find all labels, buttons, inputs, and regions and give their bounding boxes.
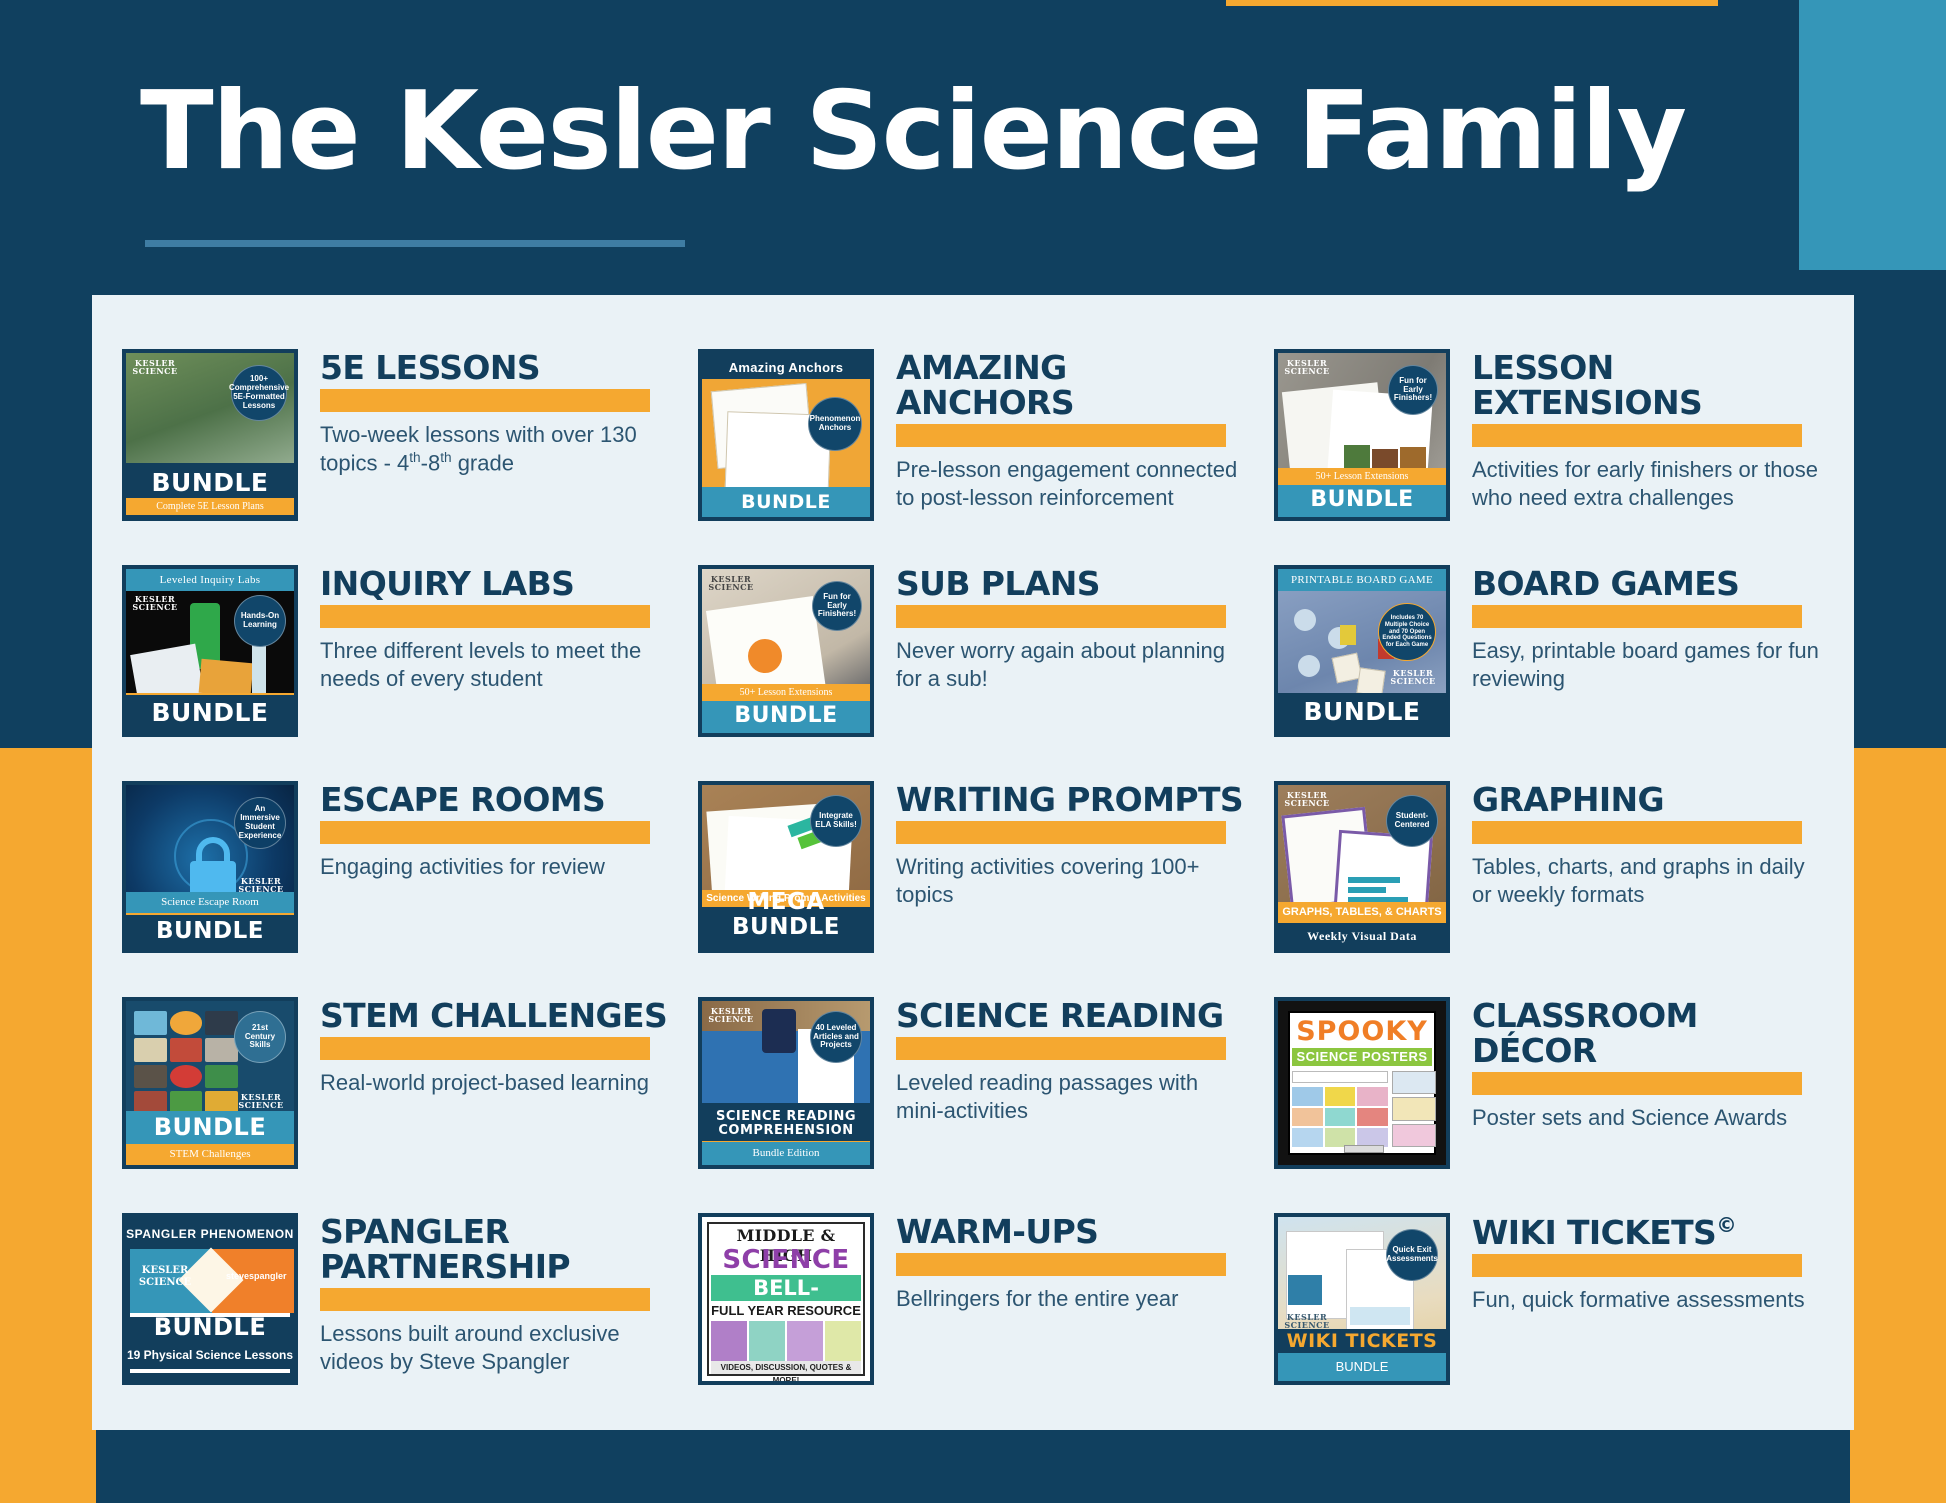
product-grid: KESLER SCIENCE 100+ Comprehensive 5E-For… xyxy=(122,345,1852,1425)
poster-subtitle: SCIENCE POSTERS xyxy=(1292,1048,1432,1066)
thumb-bar-2 xyxy=(1348,887,1386,893)
title-accent-bar xyxy=(320,389,650,412)
title-accent-bar xyxy=(896,1253,1226,1276)
product-description: Tables, charts, and graphs in daily or w… xyxy=(1472,853,1824,910)
thumb-header-label: Leveled Inquiry Labs xyxy=(126,574,294,586)
title-accent-bar xyxy=(896,821,1226,844)
poster-cell xyxy=(1392,1097,1436,1120)
title-accent-bar xyxy=(320,1037,650,1060)
thumbnail-lesson-extensions[interactable]: KESLER SCIENCE Fun for Early Finishers! … xyxy=(1274,349,1450,521)
product-title: SUB PLANS xyxy=(896,567,1248,602)
thumb-tray xyxy=(199,659,254,697)
kesler-logo-icon: KESLER SCIENCE xyxy=(1390,669,1436,685)
product-text-block: WRITING PROMPTS Writing activities cover… xyxy=(896,777,1248,910)
warmups-footer: VIDEOS, DISCUSSION, QUOTES & MORE! xyxy=(711,1361,861,1374)
product-text-block: CLASSROOM DÉCOR Poster sets and Science … xyxy=(1472,993,1824,1132)
product-description: Three different levels to meet the needs… xyxy=(320,637,672,694)
product-item-spangler-partnership[interactable]: SPANGLER PHENOMENON KESLER SCIENCE steve… xyxy=(122,1209,698,1425)
poster-cell xyxy=(1392,1124,1436,1147)
warmups-preview-cell xyxy=(749,1321,785,1365)
poster-tab xyxy=(1344,1145,1384,1153)
product-text-block: 5E LESSONS Two-week lessons with over 13… xyxy=(320,345,672,478)
product-title: LESSON EXTENSIONS xyxy=(1472,351,1824,421)
product-title: WIKI TICKETS© xyxy=(1472,1215,1824,1251)
product-description: Fun, quick formative assessments xyxy=(1472,1286,1824,1314)
product-item-sub-plans[interactable]: KESLER SCIENCE Fun for Early Finishers! … xyxy=(698,561,1274,777)
title-underline xyxy=(145,240,685,247)
thumb-header-label: Amazing Anchors xyxy=(702,360,870,375)
product-item-escape-rooms[interactable]: An Immersive Student Experience KESLER S… xyxy=(122,777,698,993)
title-accent-bar xyxy=(1472,1254,1802,1277)
thumb-strip-label: STEM Challenges xyxy=(126,1144,294,1165)
thumb-bundle-label: BUNDLE xyxy=(126,469,294,497)
thumb-bundle-label: BUNDLE xyxy=(126,919,294,945)
product-text-block: GRAPHING Tables, charts, and graphs in d… xyxy=(1472,777,1824,910)
product-text-block: BOARD GAMES Easy, printable board games … xyxy=(1472,561,1824,694)
thumbnail-classroom-decor[interactable]: SPOOKY SCIENCE POSTERS xyxy=(1274,997,1450,1169)
lock-shackle-icon xyxy=(196,837,230,863)
thumb-space-1 xyxy=(1294,609,1316,631)
page-title: The Kesler Science Family xyxy=(140,78,1685,186)
poster-title: SPOOKY xyxy=(1292,1017,1432,1047)
background-band-navy-right xyxy=(1850,270,1946,748)
product-item-5e-lessons[interactable]: KESLER SCIENCE 100+ Comprehensive 5E-For… xyxy=(122,345,698,561)
product-item-lesson-extensions[interactable]: KESLER SCIENCE Fun for Early Finishers! … xyxy=(1274,345,1852,561)
thumb-bundle-label: SCIENCE READING COMPREHENSION xyxy=(702,1110,870,1139)
product-item-writing-prompts[interactable]: Integrate ELA Skills! Science Writing Pr… xyxy=(698,777,1274,993)
kesler-logo-icon: KESLER SCIENCE xyxy=(708,1007,754,1023)
thumb-badge: Includes 70 Multiple Choice and 70 Open … xyxy=(1378,603,1436,661)
header: The Kesler Science Family xyxy=(0,0,1946,295)
product-title: AMAZING ANCHORS xyxy=(896,351,1248,421)
thumb-badge: 100+ Comprehensive 5E-Formatted Lessons xyxy=(231,365,287,421)
product-text-block: SUB PLANS Never worry again about planni… xyxy=(896,561,1248,694)
product-description: Real-world project-based learning xyxy=(320,1069,672,1097)
poster-side-grid xyxy=(1392,1071,1436,1147)
thumb-bundle-label: WIKI TICKETS xyxy=(1278,1331,1446,1352)
poster-cell xyxy=(1292,1108,1323,1127)
thumb-badge: Fun for Early Finishers! xyxy=(812,581,862,631)
warmups-line4: FULL YEAR RESOURCE xyxy=(711,1302,861,1319)
stem-icon xyxy=(205,1038,238,1062)
thumb-strip-label: BUNDLE xyxy=(1278,1353,1446,1381)
thumb-badge: Fun for Early Finishers! xyxy=(1388,365,1438,415)
title-accent-bar xyxy=(1472,605,1802,628)
copyright-symbol: © xyxy=(1716,1213,1736,1237)
kesler-logo-icon: KESLER SCIENCE xyxy=(132,595,178,611)
product-description: Pre-lesson engagement connected to post-… xyxy=(896,456,1248,513)
thumb-bundle-label: BUNDLE xyxy=(702,492,870,513)
stem-icon xyxy=(205,1065,238,1089)
thumb-strip-label: Bundle Edition xyxy=(702,1142,870,1165)
product-title: STEM CHALLENGES xyxy=(320,999,672,1034)
thumb-strip-label: Complete 5E Lesson Plans xyxy=(126,498,294,516)
poster-cell xyxy=(1392,1071,1436,1094)
thumb-strip-label: 19 Physical Science Lessons xyxy=(126,1347,294,1363)
product-item-inquiry-labs[interactable]: Leveled Inquiry Labs KESLER SCIENCE Hand… xyxy=(122,561,698,777)
stem-icon xyxy=(134,1011,167,1035)
thumbnail-sub-plans[interactable]: KESLER SCIENCE Fun for Early Finishers! … xyxy=(698,565,874,737)
product-item-board-games[interactable]: PRINTABLE BOARD GAME Includes 70 Multipl… xyxy=(1274,561,1852,777)
thumb-strip-label: 50+ Lesson Extensions xyxy=(702,684,870,702)
title-accent-bar xyxy=(896,1037,1226,1060)
poster-thumb-grid xyxy=(1292,1087,1388,1147)
product-description: Two-week lessons with over 130 topics - … xyxy=(320,421,672,478)
title-accent-bar xyxy=(1472,1072,1802,1095)
kesler-logo-icon: KESLER SCIENCE xyxy=(238,877,284,893)
poster-cell xyxy=(1292,1087,1323,1106)
warmups-preview-grid xyxy=(711,1321,861,1365)
title-accent-bar xyxy=(896,605,1226,628)
thumbnail-escape-rooms[interactable]: An Immersive Student Experience KESLER S… xyxy=(122,781,298,953)
product-item-stem-challenges[interactable]: 21st Century Skills KESLER SCIENCE BUNDL… xyxy=(122,993,698,1209)
thumbnail-warm-ups[interactable]: MIDDLE & HIGH SCIENCE BELL-RINGERS FULL … xyxy=(698,1213,874,1385)
product-item-graphing[interactable]: KESLER SCIENCE Student-Centered GRAPHS, … xyxy=(1274,777,1852,993)
product-title: WRITING PROMPTS xyxy=(896,783,1248,818)
stem-icon xyxy=(134,1038,167,1062)
thumbnail-spangler-partnership[interactable]: SPANGLER PHENOMENON KESLER SCIENCE steve… xyxy=(122,1213,298,1385)
thumb-strip-label: 50+ Lesson Extensions xyxy=(1278,468,1446,486)
product-item-science-reading[interactable]: KESLER SCIENCE 40 Leveled Articles and P… xyxy=(698,993,1274,1209)
thumb-bundle-label: BUNDLE xyxy=(702,704,870,729)
product-item-wiki-tickets[interactable]: Quick Exit Assessments KESLER SCIENCE WI… xyxy=(1274,1209,1852,1425)
product-description: Poster sets and Science Awards xyxy=(1472,1104,1824,1132)
product-description: Writing activities covering 100+ topics xyxy=(896,853,1248,910)
product-title: SPANGLER PARTNERSHIP xyxy=(320,1215,672,1285)
product-text-block: STEM CHALLENGES Real-world project-based… xyxy=(320,993,672,1097)
kesler-logo-icon: KESLER SCIENCE xyxy=(1284,791,1330,807)
stem-icon xyxy=(205,1011,238,1035)
thumbnail-board-games[interactable]: PRINTABLE BOARD GAME Includes 70 Multipl… xyxy=(1274,565,1450,737)
product-description: Engaging activities for review xyxy=(320,853,672,881)
thumb-bundle-label: BUNDLE xyxy=(1278,488,1446,513)
thumb-pawn-yellow xyxy=(1340,625,1356,645)
kesler-logo-icon: KESLER SCIENCE xyxy=(136,1265,194,1288)
title-accent-bar xyxy=(896,424,1226,447)
poster-cell xyxy=(1325,1108,1356,1127)
product-item-amazing-anchors[interactable]: Amazing Anchors Phenomenon Anchors BUNDL… xyxy=(698,345,1274,561)
stem-icon-grid xyxy=(134,1011,238,1115)
kesler-logo-icon: KESLER SCIENCE xyxy=(238,1093,284,1109)
thumb-bottom-rule xyxy=(130,1369,290,1373)
thumb-header-label: SPANGLER PHENOMENON xyxy=(126,1227,294,1241)
background-band-orange-left xyxy=(0,748,96,1503)
product-description: Lessons built around exclusive videos by… xyxy=(320,1320,672,1377)
product-text-block: ESCAPE ROOMS Engaging activities for rev… xyxy=(320,777,672,881)
spangler-logo-icon: stevespangler xyxy=(226,1271,286,1281)
warmups-line3: BELL-RINGERS xyxy=(711,1275,861,1301)
kesler-logo-icon: KESLER SCIENCE xyxy=(1284,359,1330,375)
product-title: GRAPHING xyxy=(1472,783,1824,818)
kesler-logo-icon: KESLER SCIENCE xyxy=(708,575,754,591)
product-text-block: INQUIRY LABS Three different levels to m… xyxy=(320,561,672,694)
thumb-badge: Integrate ELA Skills! xyxy=(810,795,862,847)
product-title: 5E LESSONS xyxy=(320,351,672,386)
warmups-line1: MIDDLE & HIGH xyxy=(711,1226,861,1246)
product-description: Bellringers for the entire year xyxy=(896,1285,1248,1313)
thumb-badge: Hands-On Learning xyxy=(234,595,286,647)
poster-cell xyxy=(1357,1108,1388,1127)
product-title: ESCAPE ROOMS xyxy=(320,783,672,818)
thumbnail-graphing[interactable]: KESLER SCIENCE Student-Centered GRAPHS, … xyxy=(1274,781,1450,953)
poster-cell xyxy=(1292,1071,1388,1083)
poster-cell xyxy=(1357,1087,1388,1106)
product-text-block: AMAZING ANCHORS Pre-lesson engagement co… xyxy=(896,345,1248,513)
thumb-bar-1 xyxy=(1348,877,1400,883)
thumb-strip-label: GRAPHS, TABLES, & CHARTS xyxy=(1278,902,1446,923)
thumb-photo xyxy=(1288,1275,1322,1305)
thumb-badge: Student-Centered xyxy=(1386,795,1438,847)
product-description: Never worry again about planning for a s… xyxy=(896,637,1248,694)
warmups-line2: SCIENCE xyxy=(711,1246,861,1274)
product-item-classroom-decor[interactable]: SPOOKY SCIENCE POSTERS CLASS xyxy=(1274,993,1852,1209)
product-text-block: WIKI TICKETS© Fun, quick formative asses… xyxy=(1472,1209,1824,1314)
thumb-photo-2 xyxy=(1350,1307,1410,1325)
thumb-space-3 xyxy=(1298,655,1320,677)
product-text-block: LESSON EXTENSIONS Activities for early f… xyxy=(1472,345,1824,513)
kesler-logo-icon: KESLER SCIENCE xyxy=(1284,1313,1330,1329)
poster-cell xyxy=(1325,1087,1356,1106)
product-text-block: WARM-UPS Bellringers for the entire year xyxy=(896,1209,1248,1313)
product-title: SCIENCE READING xyxy=(896,999,1248,1034)
stem-icon xyxy=(134,1065,167,1089)
title-accent-bar xyxy=(320,1288,650,1311)
thumb-strip-label: Science Escape Room xyxy=(126,892,294,913)
thumbnail-writing-prompts[interactable]: Integrate ELA Skills! Science Writing Pr… xyxy=(698,781,874,953)
thumbnail-science-reading[interactable]: KESLER SCIENCE 40 Leveled Articles and P… xyxy=(698,997,874,1169)
thumb-badge: Phenomenon Anchors xyxy=(808,397,862,451)
product-title: CLASSROOM DÉCOR xyxy=(1472,999,1824,1069)
background-band-orange-right xyxy=(1850,748,1946,1503)
thumb-bundle-label: BUNDLE xyxy=(126,1114,294,1141)
thumb-badge: Quick Exit Assessments xyxy=(1386,1229,1438,1281)
title-accent-bar xyxy=(1472,424,1802,447)
product-text-block: SCIENCE READING Leveled reading passages… xyxy=(896,993,1248,1126)
title-accent-bar xyxy=(320,821,650,844)
stem-icon xyxy=(170,1065,203,1089)
product-title: INQUIRY LABS xyxy=(320,567,672,602)
thumb-badge: An Immersive Student Experience xyxy=(234,797,286,849)
product-description: Leveled reading passages with mini-activ… xyxy=(896,1069,1248,1126)
thumbnail-stem-challenges[interactable]: 21st Century Skills KESLER SCIENCE BUNDL… xyxy=(122,997,298,1169)
title-accent-bar xyxy=(1472,821,1802,844)
thumb-bundle-label: Weekly Visual Data xyxy=(1278,930,1446,943)
kesler-logo-icon: KESLER SCIENCE xyxy=(132,359,178,375)
warmups-preview-cell xyxy=(711,1321,747,1365)
product-description: Activities for early finishers or those … xyxy=(1472,456,1824,513)
thumbnail-inquiry-labs[interactable]: Leveled Inquiry Labs KESLER SCIENCE Hand… xyxy=(122,565,298,737)
product-title: WARM-UPS xyxy=(896,1215,1248,1250)
product-title: BOARD GAMES xyxy=(1472,567,1824,602)
thumb-bundle-label: BUNDLE xyxy=(1278,698,1446,726)
thumb-header-label: PRINTABLE BOARD GAME xyxy=(1278,574,1446,586)
thumb-bundle-label: BUNDLE xyxy=(126,1314,294,1341)
product-text-block: SPANGLER PARTNERSHIP Lessons built aroun… xyxy=(320,1209,672,1377)
product-description: Easy, printable board games for fun revi… xyxy=(1472,637,1824,694)
thumb-cylinder xyxy=(252,643,266,699)
warmups-preview-cell xyxy=(825,1321,861,1365)
thumb-bundle-label: BUNDLE xyxy=(126,699,294,727)
stem-icon xyxy=(170,1011,203,1035)
title-accent-bar xyxy=(320,605,650,628)
warmups-preview-cell xyxy=(787,1321,823,1365)
thumbnail-amazing-anchors[interactable]: Amazing Anchors Phenomenon Anchors BUNDL… xyxy=(698,349,874,521)
thumbnail-5e-lessons[interactable]: KESLER SCIENCE 100+ Comprehensive 5E-For… xyxy=(122,349,298,521)
poster-cell xyxy=(1292,1128,1323,1147)
thumb-badge: 21st Century Skills xyxy=(234,1011,286,1063)
thumb-bundle-label: MEGA BUNDLE xyxy=(702,890,870,942)
thumb-microscope-icon xyxy=(762,1009,796,1053)
product-item-warm-ups[interactable]: MIDDLE & HIGH SCIENCE BELL-RINGERS FULL … xyxy=(698,1209,1274,1425)
stem-icon xyxy=(170,1038,203,1062)
thumbnail-wiki-tickets[interactable]: Quick Exit Assessments KESLER SCIENCE WI… xyxy=(1274,1213,1450,1385)
thumb-circle-graphic xyxy=(748,639,782,673)
thumb-badge: 40 Leveled Articles and Projects xyxy=(810,1011,862,1063)
